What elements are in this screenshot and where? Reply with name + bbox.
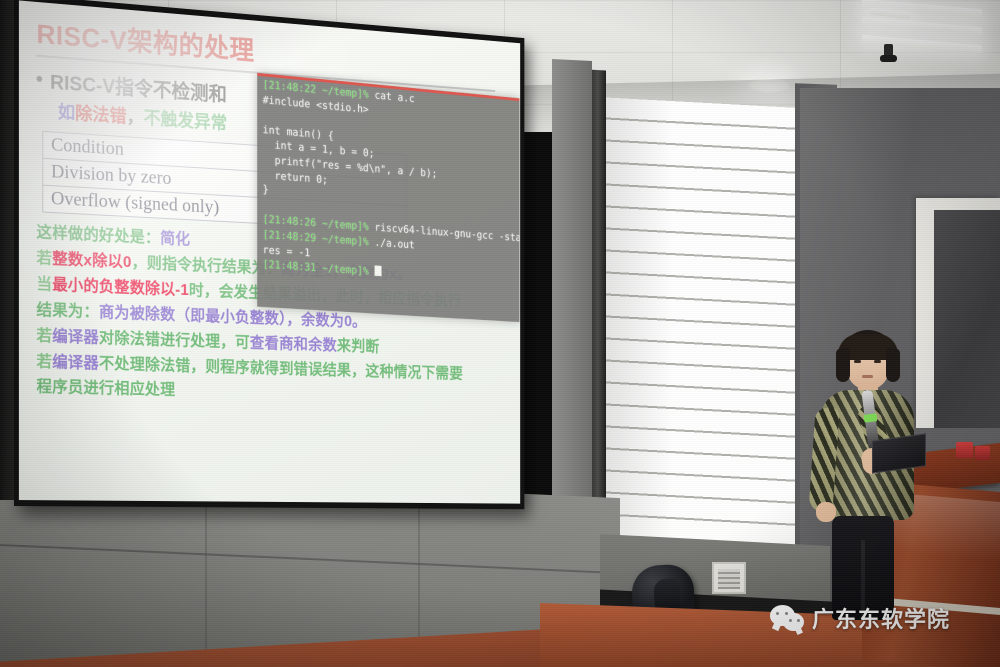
hair-side-right [886,348,900,382]
paragraph-run-2-0: 当 [36,276,52,294]
wall-seam [0,544,620,574]
bullet-sub-run-3: 不触发异常 [144,108,228,133]
hair-side-left [836,348,850,382]
wechat-icon [770,605,804,631]
terminal-window[interactable]: [21:48:22 ~/temp]% cat a.c#include <stdi… [257,73,519,322]
paragraph-run-4-2: 对除法错进行处理，可 [99,330,250,352]
terminal-text [263,108,269,121]
eye [854,360,861,363]
watermark: 广东东软学院 [770,602,950,634]
paragraph-run-5-1: 编译器 [52,354,99,372]
terminal-text [263,198,269,211]
screen-surface: RISC-V架构的处理 RISC-V指令不检测和 如除法错，不触发异常 Cond… [19,0,520,503]
paragraph-run-4-1: 编译器 [52,328,99,346]
presenter-woman [806,330,926,620]
eye [874,360,881,363]
paragraph-run-1-0: 若 [36,250,52,268]
paragraph-run-0-0: 这样做的好处是： [36,224,160,247]
wechat-bubble-small [783,613,804,631]
wall-cable-panel [712,562,746,594]
paragraph-run-1-1: 整数x除以0 [52,251,131,271]
red-cup [975,446,990,460]
terminal-text: cat a.c [369,88,415,105]
paragraph-run-4-0: 若 [36,327,52,344]
bullet-sub-run-1: 除法错 [75,103,126,126]
terminal-text: res = -1 [263,243,311,259]
doorway-opening [934,210,1000,428]
paragraph-run-0-1: 简化 [160,230,190,248]
bullet-sub-run-0: 如 [58,102,75,123]
screen-frame: RISC-V架构的处理 RISC-V指令不检测和 如除法错，不触发异常 Cond… [14,0,524,509]
terminal-text: ./a.out [369,236,415,252]
paragraph-run-3-0: 结果为： [36,302,98,321]
bullet-dot-icon [36,76,42,82]
paragraph-run-4-4: 来判断 [337,338,380,355]
watermark-text: 广东东软学院 [812,602,950,634]
paragraph-run-6-0: 程序员进行相应处理 [36,379,175,399]
paragraph-run-4-3: 查看商和余数 [250,335,337,354]
bullet-sub-run-2: ， [127,107,144,128]
terminal-cursor [374,266,381,277]
wall-seam [205,479,207,667]
red-cup [956,442,973,458]
microphone-band [864,413,878,423]
projection-screen: RISC-V架构的处理 RISC-V指令不检测和 如除法错，不触发异常 Cond… [14,0,524,509]
mouth [862,375,873,378]
paragraph-run-5-0: 若 [36,353,52,370]
terminal-text: } [263,183,269,196]
paragraph-run-2-1: 最小的负整数除以-1 [52,276,189,298]
ceiling-sensor-icon [884,44,893,60]
lecture-hall-scene: RISC-V架构的处理 RISC-V指令不检测和 如除法错，不触发异常 Cond… [0,0,1000,667]
